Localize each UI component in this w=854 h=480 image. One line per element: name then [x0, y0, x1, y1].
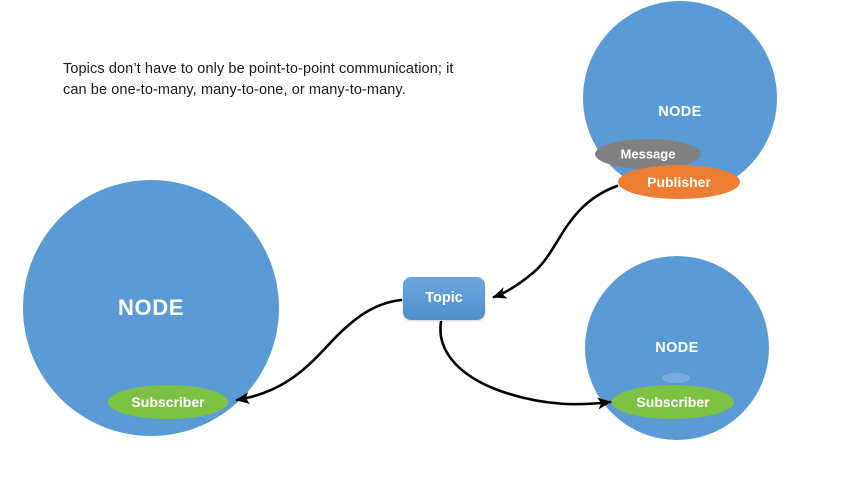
- ghost-artifact: [662, 373, 690, 383]
- message-ellipse[interactable]: [595, 139, 701, 169]
- subscriber-node-bottom-right: [585, 256, 769, 440]
- publisher-ellipse[interactable]: [618, 165, 740, 199]
- subscriber-ellipse[interactable]: [108, 385, 228, 419]
- subscriber-ellipse[interactable]: [612, 385, 734, 419]
- topic-box[interactable]: [403, 277, 485, 320]
- diagram-canvas: Topics don’t have to only be point-to-po…: [0, 0, 854, 480]
- connector-publisher-to-topic: [494, 186, 617, 297]
- subscriber-node-left: [23, 180, 279, 436]
- diagram-svg: [0, 0, 854, 480]
- publisher-node: [583, 1, 777, 199]
- connector-topic-to-bottom-right-subscriber: [440, 322, 610, 404]
